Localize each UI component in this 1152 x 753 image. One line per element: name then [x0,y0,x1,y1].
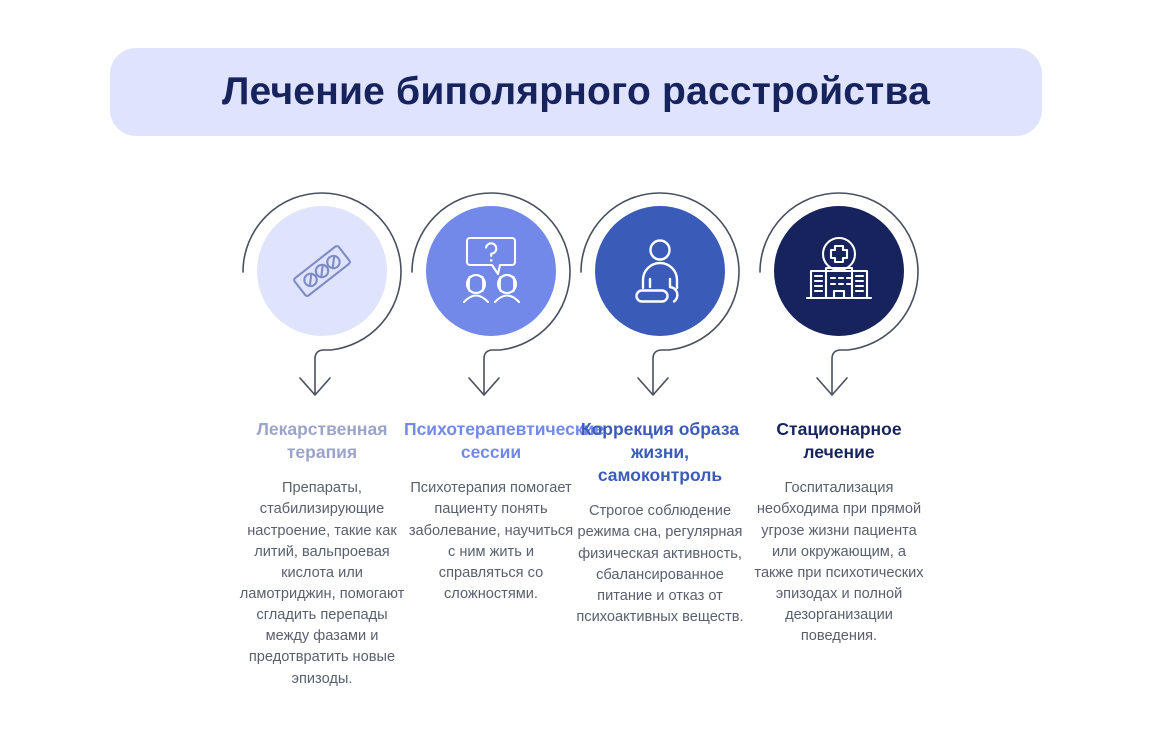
step-text-block: Стационарное лечение Госпитализация необ… [752,418,926,647]
step-circle [257,206,387,336]
step-description: Госпитализация необходима при прямой угр… [752,478,926,647]
step-description: Препараты, стабилизирующие настроение, т… [235,478,409,690]
page-title: Лечение биполярного расстройства [222,70,930,114]
step-node [404,180,578,408]
step-circle [595,206,725,336]
step-heading: Лекарственная терапия [235,418,409,464]
step-lifestyle-correction: Коррекция образа жизни, самоконтроль Стр… [573,180,747,408]
step-heading: Психотерапевтические сессии [404,418,578,464]
step-circle [774,206,904,336]
speech-bubble-question-people-icon [451,233,531,309]
step-node [573,180,747,408]
meditating-person-icon [624,235,696,307]
step-medication-therapy: Лекарственная терапия Препараты, стабили… [235,180,409,408]
pill-blister-pack-icon [285,234,359,308]
step-text-block: Коррекция образа жизни, самоконтроль Стр… [573,418,747,628]
hospital-building-icon [802,236,876,306]
step-text-block: Лекарственная терапия Препараты, стабили… [235,418,409,690]
treatment-steps: Лекарственная терапия Препараты, стабили… [0,180,1152,740]
step-description: Психотерапия помогает пациенту понять за… [404,478,578,605]
title-banner: Лечение биполярного расстройства [110,48,1042,136]
step-inpatient-treatment: Стационарное лечение Госпитализация необ… [752,180,926,408]
step-psychotherapy-sessions: Психотерапевтические сессии Психотерапия… [404,180,578,408]
step-heading: Стационарное лечение [752,418,926,464]
step-description: Строгое соблюдение режима сна, регулярна… [573,501,747,628]
step-circle [426,206,556,336]
step-node [752,180,926,408]
step-node [235,180,409,408]
step-heading: Коррекция образа жизни, самоконтроль [573,418,747,487]
step-text-block: Психотерапевтические сессии Психотерапия… [404,418,578,605]
